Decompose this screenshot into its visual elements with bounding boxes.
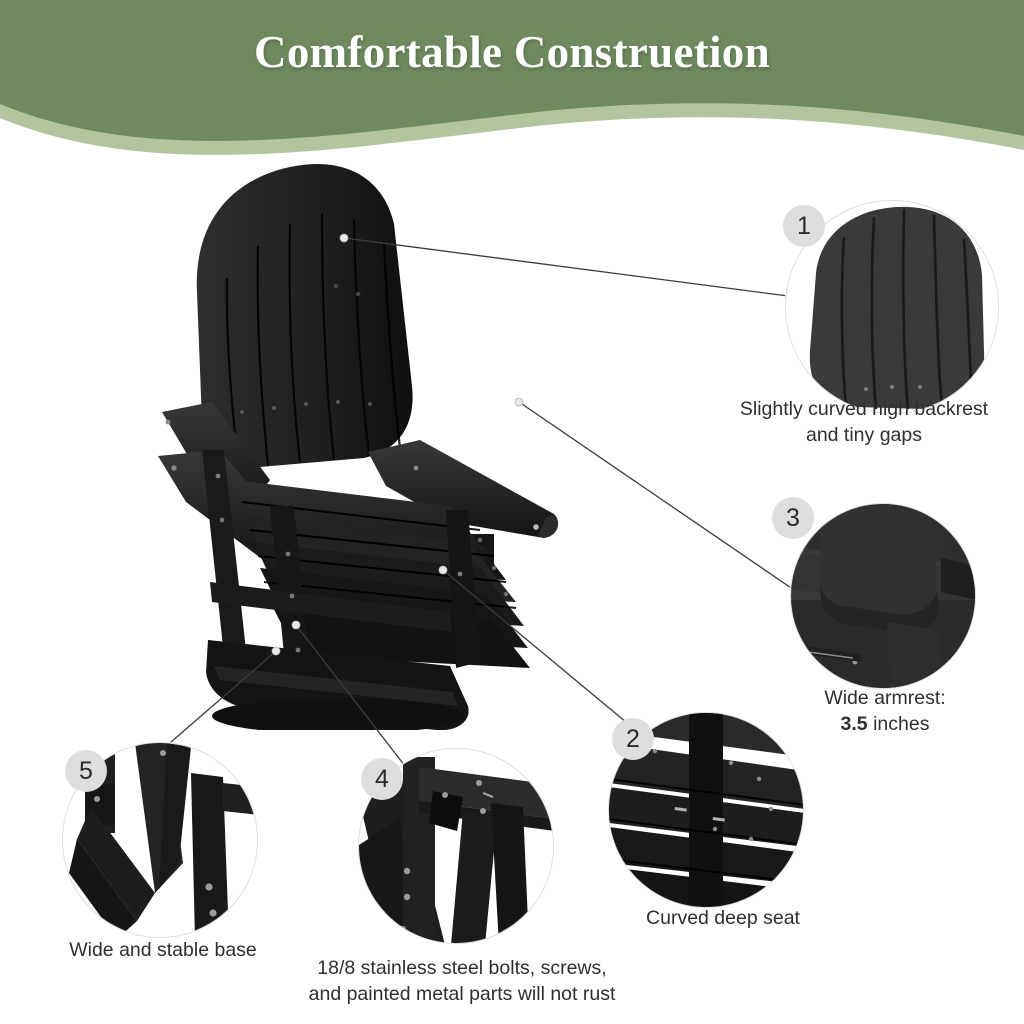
callout-3-caption-unit: inches bbox=[868, 713, 930, 735]
callout-4-caption: 18/8 stainless steel bolts, screws, and … bbox=[262, 955, 662, 1007]
page-title: Comfortable Construetion bbox=[0, 26, 1024, 78]
callout-1-caption: Slightly curved high backrest and tiny g… bbox=[714, 396, 1014, 448]
callout-3-caption: Wide armrest:3.5 inches bbox=[740, 685, 1024, 737]
chair-backrest bbox=[197, 164, 413, 468]
callout-5-badge: 5 bbox=[65, 750, 107, 792]
product-image bbox=[150, 150, 570, 730]
callout-3-badge: 3 bbox=[772, 497, 814, 539]
callout-3-caption-line1: Wide armrest: bbox=[824, 687, 945, 709]
callout-2-badge: 2 bbox=[612, 718, 654, 760]
callout-3-bubble[interactable] bbox=[790, 503, 976, 689]
callout-4-badge: 4 bbox=[361, 758, 403, 800]
callout-2-caption: Curved deep seat bbox=[578, 905, 868, 931]
callout-3-caption-value: 3.5 bbox=[841, 713, 868, 735]
header-banner: Comfortable Construetion bbox=[0, 0, 1024, 175]
callout-1-badge: 1 bbox=[783, 205, 825, 247]
callout-5-caption: Wide and stable base bbox=[18, 937, 308, 963]
